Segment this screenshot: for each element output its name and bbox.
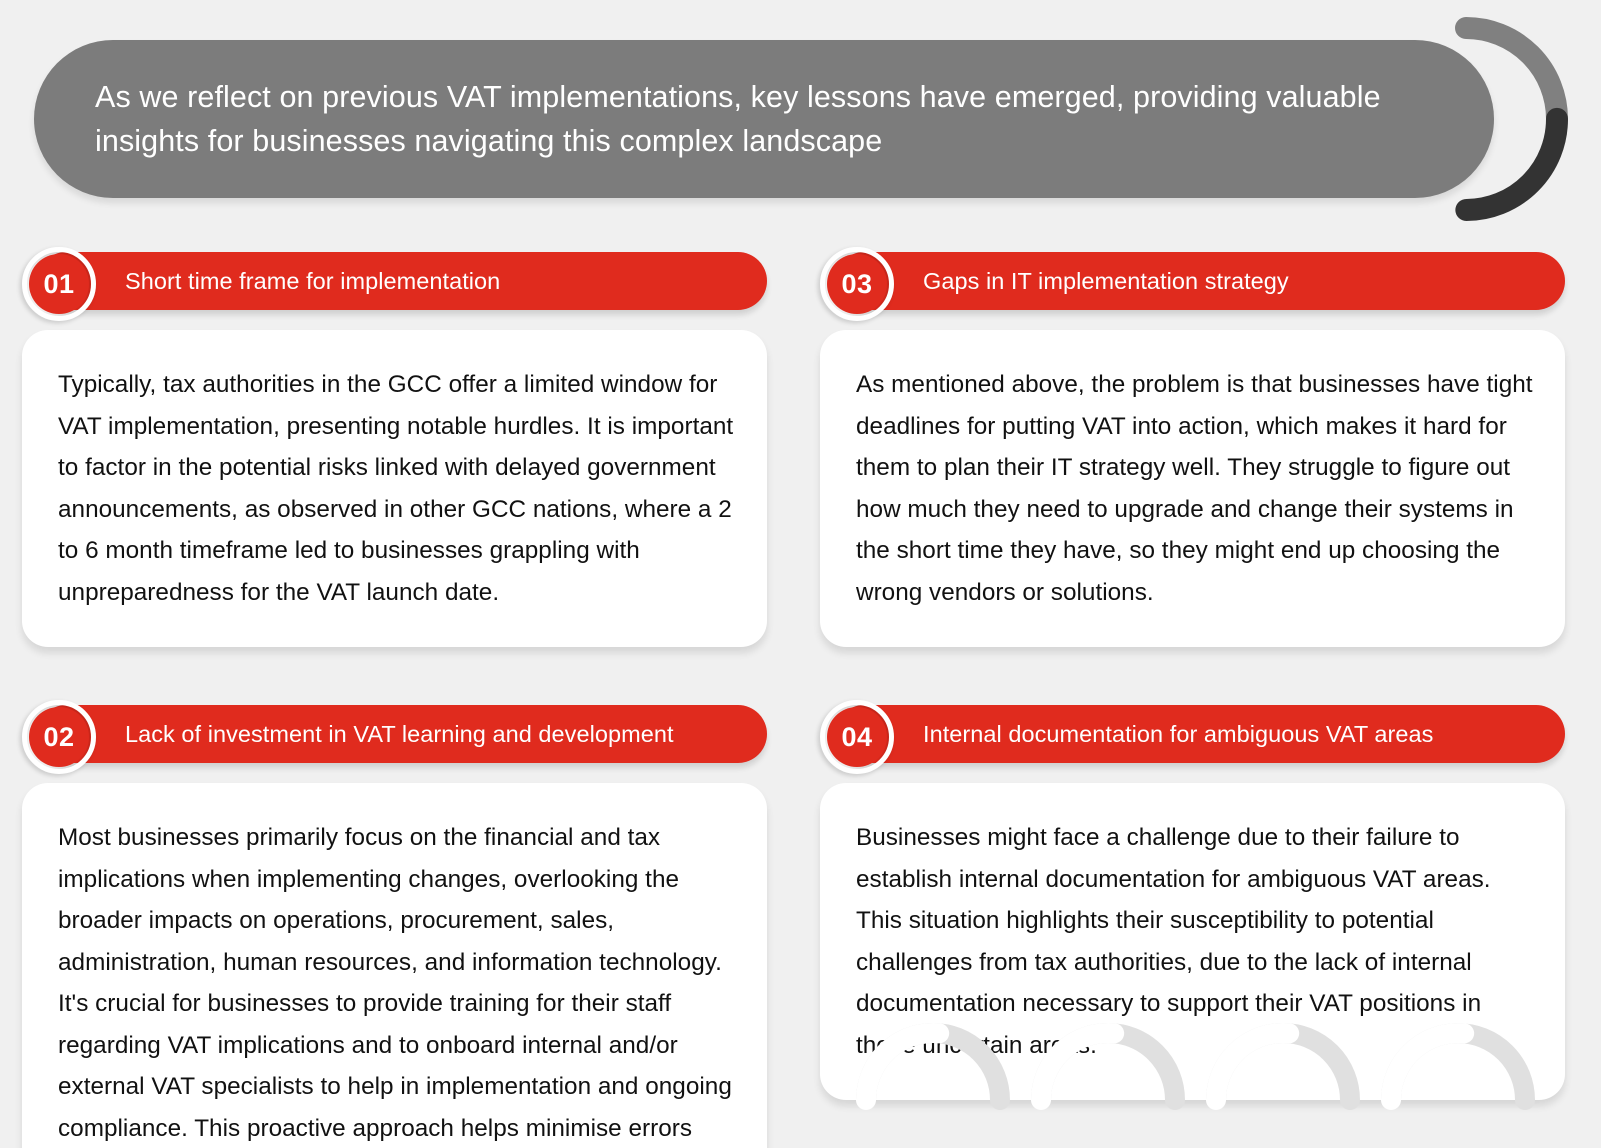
section-04-badge: 04: [820, 700, 894, 774]
section-04-card: Businesses might face a challenge due to…: [820, 783, 1565, 1100]
section-04-number: 04: [841, 722, 872, 753]
section-03: Gaps in IT implementation strategy 03 As…: [820, 252, 1565, 647]
section-03-number: 03: [841, 269, 872, 300]
infographic-page: As we reflect on previous VAT implementa…: [0, 0, 1601, 1148]
section-02-body: Most businesses primarily focus on the f…: [58, 817, 737, 1148]
section-03-pill[interactable]: Gaps in IT implementation strategy: [835, 252, 1565, 310]
section-04-header: Internal documentation for ambiguous VAT…: [820, 705, 1565, 773]
section-02-title: Lack of investment in VAT learning and d…: [37, 720, 698, 748]
section-01-title: Short time frame for implementation: [37, 267, 524, 295]
section-01-number: 01: [43, 269, 74, 300]
header-banner: As we reflect on previous VAT implementa…: [34, 40, 1494, 198]
badge-fill: 02: [29, 707, 89, 767]
section-03-title: Gaps in IT implementation strategy: [835, 267, 1313, 295]
section-04: Internal documentation for ambiguous VAT…: [820, 705, 1565, 1100]
section-01-header: Short time frame for implementation 01: [22, 252, 767, 320]
section-02: Lack of investment in VAT learning and d…: [22, 705, 767, 1148]
section-02-badge: 02: [22, 700, 96, 774]
right-column: Gaps in IT implementation strategy 03 As…: [820, 252, 1565, 1100]
section-01-badge: 01: [22, 247, 96, 321]
section-04-body: Businesses might face a challenge due to…: [856, 817, 1535, 1066]
section-02-card: Most businesses primarily focus on the f…: [22, 783, 767, 1148]
section-03-badge: 03: [820, 247, 894, 321]
badge-fill: 04: [827, 707, 887, 767]
left-column: Short time frame for implementation 01 T…: [22, 252, 767, 1148]
section-02-number: 02: [43, 722, 74, 753]
section-04-pill[interactable]: Internal documentation for ambiguous VAT…: [835, 705, 1565, 763]
section-01-card: Typically, tax authorities in the GCC of…: [22, 330, 767, 647]
section-02-pill[interactable]: Lack of investment in VAT learning and d…: [37, 705, 767, 763]
section-03-header: Gaps in IT implementation strategy 03: [820, 252, 1565, 320]
badge-fill: 03: [827, 254, 887, 314]
section-01-body: Typically, tax authorities in the GCC of…: [58, 364, 737, 613]
section-01: Short time frame for implementation 01 T…: [22, 252, 767, 647]
section-03-card: As mentioned above, the problem is that …: [820, 330, 1565, 647]
section-01-pill[interactable]: Short time frame for implementation: [37, 252, 767, 310]
header-banner-text: As we reflect on previous VAT implementa…: [34, 75, 1494, 163]
section-03-body: As mentioned above, the problem is that …: [856, 364, 1535, 613]
badge-fill: 01: [29, 254, 89, 314]
section-02-header: Lack of investment in VAT learning and d…: [22, 705, 767, 773]
section-04-title: Internal documentation for ambiguous VAT…: [835, 720, 1457, 748]
